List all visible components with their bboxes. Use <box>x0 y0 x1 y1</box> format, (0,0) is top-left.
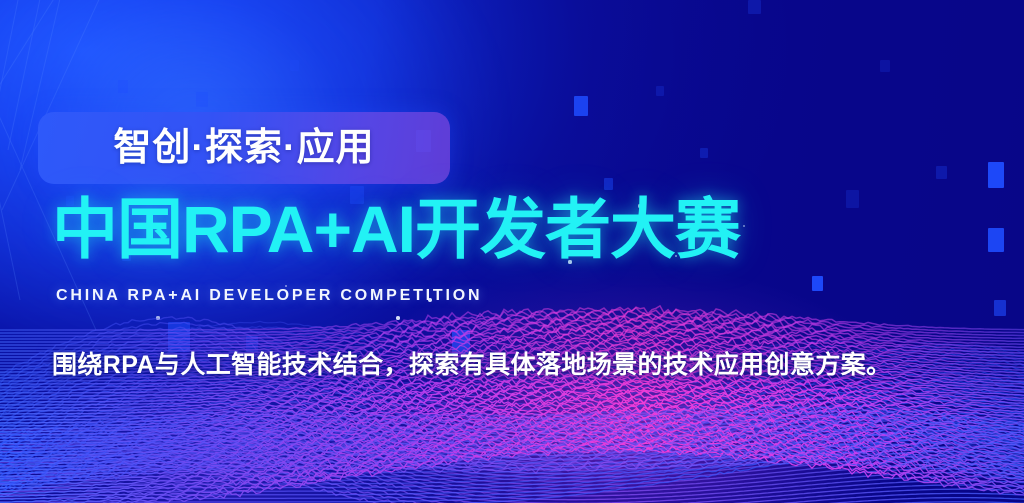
banner-content: 智创·探索·应用 中国RPA+AI开发者大赛 CHINA RPA+AI DEVE… <box>0 0 1024 503</box>
slogan-text: 智创·探索·应用 <box>113 129 374 167</box>
competition-banner: 智创·探索·应用 中国RPA+AI开发者大赛 CHINA RPA+AI DEVE… <box>0 0 1024 503</box>
english-subtitle: CHINA RPA+AI DEVELOPER COMPETITION <box>56 287 482 305</box>
page-title: 中国RPA+AI开发者大赛 <box>52 196 740 262</box>
slogan-pill: 智创·探索·应用 <box>38 112 450 184</box>
tagline-text: 围绕RPA与人工智能技术结合，探索有具体落地场景的技术应用创意方案。 <box>52 345 892 381</box>
